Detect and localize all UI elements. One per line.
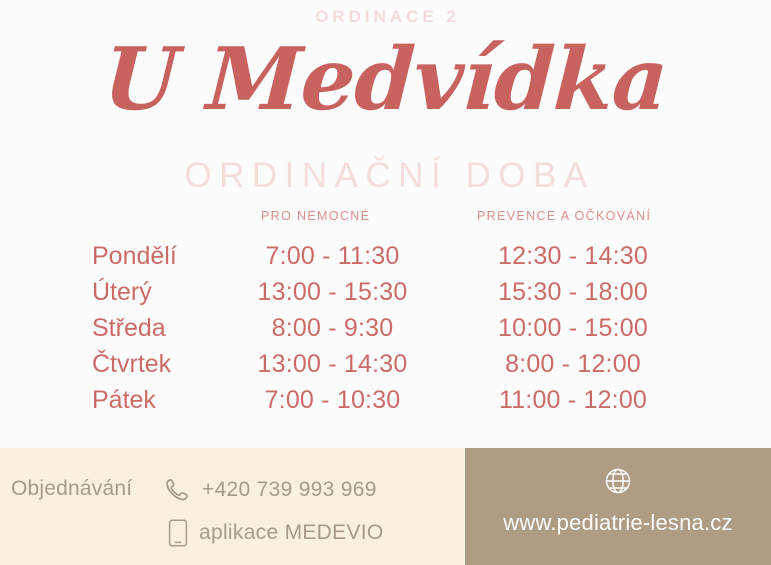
cell-sick: 7:00 - 11:30 — [240, 238, 425, 274]
cell-prevention: 11:00 - 12:00 — [478, 382, 668, 418]
cell-prevention: 10:00 - 15:00 — [478, 310, 668, 346]
table-row: Pátek 7:00 - 10:30 11:00 - 12:00 — [0, 382, 771, 418]
table-body: Pondělí 7:00 - 11:30 12:30 - 14:30 Úterý… — [0, 238, 771, 418]
cell-day: Čtvrtek — [92, 346, 171, 382]
cell-day: Úterý — [92, 274, 152, 310]
phone-number: +420 739 993 969 — [202, 478, 377, 502]
footer-contact-panel: Objednávání +420 739 993 969 aplikace ME… — [0, 448, 465, 565]
booking-label: Objednávání — [11, 477, 132, 501]
app-contact[interactable]: aplikace MEDEVIO — [168, 519, 384, 547]
cell-sick: 13:00 - 14:30 — [240, 346, 425, 382]
cell-day: Pondělí — [92, 238, 177, 274]
table-header-row: PRO NEMOCNÉ PREVENCE A OČKOVÁNÍ — [0, 206, 771, 234]
footer-web-panel[interactable]: www.pediatrie-lesna.cz — [465, 448, 771, 565]
globe-icon — [603, 466, 633, 496]
poster-root: ORDINACE 2 U Medvídka ORDINAČNÍ DOBA PRO… — [0, 0, 771, 565]
smartphone-icon — [168, 519, 188, 547]
website-url[interactable]: www.pediatrie-lesna.cz — [465, 510, 771, 536]
opening-hours-table: PRO NEMOCNÉ PREVENCE A OČKOVÁNÍ Pondělí … — [0, 206, 771, 418]
cell-prevention: 12:30 - 14:30 — [478, 238, 668, 274]
table-row: Čtvrtek 13:00 - 14:30 8:00 - 12:00 — [0, 346, 771, 382]
table-row: Pondělí 7:00 - 11:30 12:30 - 14:30 — [0, 238, 771, 274]
cell-sick: 8:00 - 9:30 — [240, 310, 425, 346]
column-header-prevention: PREVENCE A OČKOVÁNÍ — [477, 209, 651, 223]
cell-day: Středa — [92, 310, 166, 346]
cell-prevention: 15:30 - 18:00 — [478, 274, 668, 310]
cell-sick: 7:00 - 10:30 — [240, 382, 425, 418]
app-name: aplikace MEDEVIO — [199, 521, 384, 545]
cell-sick: 13:00 - 15:30 — [240, 274, 425, 310]
cell-prevention: 8:00 - 12:00 — [478, 346, 668, 382]
table-row: Středa 8:00 - 9:30 10:00 - 15:00 — [0, 310, 771, 346]
clinic-logo-title: U Medvídka — [0, 36, 771, 124]
page-title: ORDINAČNÍ DOBA — [0, 156, 771, 196]
globe-icon-wrap — [465, 466, 771, 496]
eyebrow-label: ORDINACE 2 — [0, 7, 771, 27]
table-row: Úterý 13:00 - 15:30 15:30 - 18:00 — [0, 274, 771, 310]
phone-icon — [163, 476, 191, 504]
column-header-sick: PRO NEMOCNÉ — [261, 209, 370, 223]
cell-day: Pátek — [92, 382, 156, 418]
phone-contact[interactable]: +420 739 993 969 — [163, 476, 377, 504]
footer: Objednávání +420 739 993 969 aplikace ME… — [0, 448, 771, 565]
